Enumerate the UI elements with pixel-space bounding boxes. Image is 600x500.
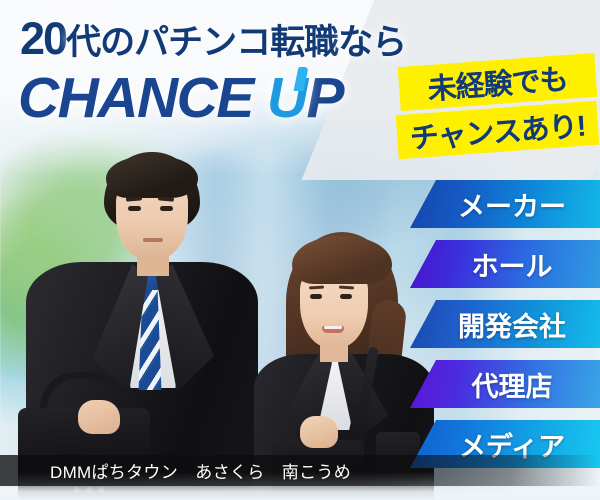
logo-p-letter: P xyxy=(307,66,344,130)
female-eye-right xyxy=(340,294,352,299)
category-label-maker: メーカー xyxy=(444,185,566,224)
badge-no-experience-label: 未経験でも xyxy=(426,56,569,108)
chance-up-logo: CHANCEUP xyxy=(18,70,343,127)
credit-bar: DMMぱちタウン あさくら 南こうめ xyxy=(0,455,600,486)
headline-middle: 代のパチンコ転職 xyxy=(66,23,338,62)
category-label-hall: ホール xyxy=(458,245,553,284)
female-teeth xyxy=(324,326,342,329)
credit-text: DMMぱちタウン あさくら 南こうめ xyxy=(0,458,351,483)
category-label-development: 開発会社 xyxy=(444,305,566,344)
recruitment-banner: 20代のパチンコ転職なら CHANCEUP 未経験でも チャンスあり! メーカー… xyxy=(0,0,600,500)
category-button-maker[interactable]: メーカー xyxy=(410,180,600,228)
male-eye-right xyxy=(160,206,173,211)
logo-chance-text: CHANCE xyxy=(18,66,253,130)
category-button-hall[interactable]: ホール xyxy=(410,240,600,288)
male-hand xyxy=(78,400,120,434)
female-eye-left xyxy=(310,294,322,299)
female-hand xyxy=(300,416,338,448)
headline-number: 20 xyxy=(20,13,66,64)
female-fringe xyxy=(292,236,392,284)
page-headline: 20代のパチンコ転職なら xyxy=(20,16,406,61)
category-button-development[interactable]: 開発会社 xyxy=(410,300,600,348)
male-mouth xyxy=(143,238,163,242)
category-list: メーカー ホール 開発会社 代理店 メディア xyxy=(410,180,600,480)
category-label-agency: 代理店 xyxy=(458,365,553,404)
category-button-agency[interactable]: 代理店 xyxy=(410,360,600,408)
male-fringe xyxy=(106,156,198,198)
male-eye-left xyxy=(128,206,141,211)
headline-tail: なら xyxy=(338,23,406,62)
business-people-photo xyxy=(0,150,420,500)
logo-u-letter: U xyxy=(267,70,307,127)
